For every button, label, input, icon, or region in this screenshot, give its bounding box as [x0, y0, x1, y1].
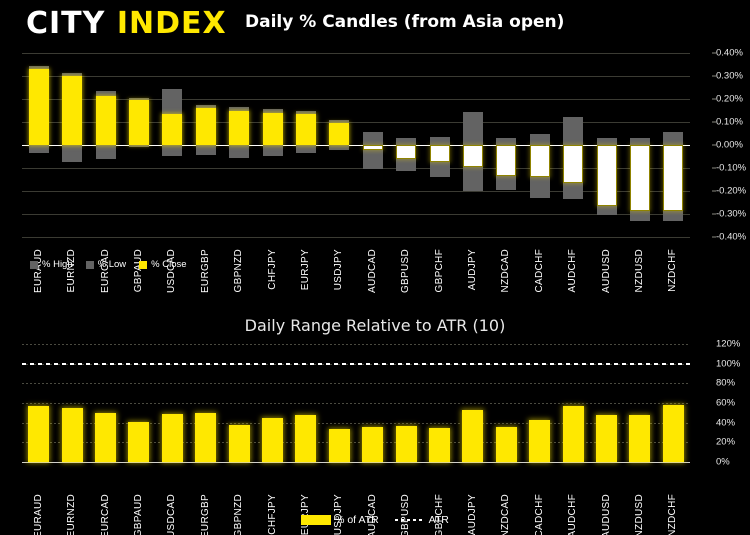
candle	[530, 53, 550, 237]
atr-bar	[262, 418, 283, 462]
legend-swatch-icon	[30, 261, 38, 269]
candles-plot-area: 0.40%0.30%0.20%0.10%0.00%-0.10%-0.20%-0.…	[22, 53, 690, 237]
x-axis-tick-label: GBPCHF	[434, 249, 445, 292]
gridline	[22, 442, 690, 443]
candle-body-down	[563, 145, 583, 183]
atr-bar	[329, 429, 350, 462]
candle-body-down	[430, 145, 450, 162]
atr-bar	[229, 425, 250, 462]
candle-body-down	[630, 145, 650, 211]
legend-label: ATR	[429, 514, 449, 526]
x-axis-tick-label: AUDCHF	[567, 249, 578, 292]
candle-body-down	[530, 145, 550, 177]
candle-body-up	[296, 114, 316, 145]
candle-body-down	[463, 145, 483, 167]
x-axis-tick-label: AUDCAD	[367, 249, 378, 293]
candle	[463, 53, 483, 237]
y-axis-tick-label: 40%	[716, 417, 735, 428]
atr-bar	[563, 406, 584, 462]
gridline	[22, 423, 690, 424]
candle	[62, 53, 82, 237]
legend-label: % Close	[151, 259, 186, 270]
gridline	[22, 237, 690, 238]
gridline	[22, 214, 690, 215]
atr-bar	[396, 426, 417, 462]
candle	[229, 53, 249, 237]
y-axis-tick-label: 0.40%	[716, 48, 743, 59]
atr-bar	[362, 427, 383, 462]
y-axis-tick-label: 0.00%	[716, 140, 743, 151]
candle-body-down	[363, 145, 383, 150]
atr-bar	[629, 415, 650, 462]
legend-item: ATR	[395, 514, 449, 526]
atr-bar	[95, 413, 116, 462]
atr-bar	[496, 427, 517, 462]
legend-item: % of ATR	[301, 514, 379, 526]
candles-legend: % High% Low% Close	[30, 259, 187, 270]
atr-bar	[462, 410, 483, 462]
candles-panel: 0.40%0.30%0.20%0.10%0.00%-0.10%-0.20%-0.…	[0, 46, 750, 316]
x-axis-tick-label: NZDCHF	[667, 249, 678, 292]
y-axis-tick-label: 0.20%	[716, 94, 743, 105]
x-axis-tick-label: GBPAUD	[133, 249, 144, 292]
gridline	[22, 403, 690, 404]
atr-bar	[162, 414, 183, 462]
baseline	[22, 462, 690, 463]
x-axis-tick-label: EURCAD	[100, 249, 111, 293]
x-axis-tick-label: AUDUSD	[601, 249, 612, 293]
candle	[563, 53, 583, 237]
gridline	[22, 383, 690, 384]
chart1-title: Daily % Candles (from Asia open)	[245, 12, 564, 32]
legend-label: % of ATR	[335, 514, 379, 526]
candle	[196, 53, 216, 237]
atr-bar	[62, 408, 83, 462]
brand-word-index: INDEX	[117, 6, 227, 41]
candle	[29, 53, 49, 237]
gridline	[22, 99, 690, 100]
candle-wick	[363, 132, 383, 169]
y-axis-tick-label: 60%	[716, 398, 735, 409]
y-axis-tick-label: 0%	[716, 457, 730, 468]
candle	[597, 53, 617, 237]
candle-body-up	[329, 123, 349, 145]
atr-bar	[596, 415, 617, 462]
gridline	[22, 168, 690, 169]
legend-label: % High	[42, 259, 73, 270]
candle	[663, 53, 683, 237]
y-axis-tick-label: -0.30%	[716, 209, 746, 220]
legend-dotted-line-icon	[395, 519, 425, 521]
zero-line	[22, 145, 690, 146]
legend-item: % High	[30, 259, 73, 270]
gridline	[22, 191, 690, 192]
gridline	[22, 122, 690, 123]
y-axis-tick-label: 0.10%	[716, 117, 743, 128]
y-axis-tick-label: 80%	[716, 378, 735, 389]
atr-bar	[128, 422, 149, 462]
candle	[129, 53, 149, 237]
y-axis-tick-label: 0.30%	[716, 71, 743, 82]
chart2-title: Daily Range Relative to ATR (10)	[0, 316, 750, 335]
x-axis-tick-label: EURGBP	[200, 249, 211, 293]
x-axis-tick-label: EURJPY	[300, 249, 311, 290]
gridline	[22, 76, 690, 77]
brand-word-city: CITY	[26, 6, 105, 41]
x-axis-tick-label: USDCAD	[166, 249, 177, 293]
x-axis-tick-label: EURNZD	[66, 249, 77, 292]
y-axis-tick-label: 20%	[716, 437, 735, 448]
x-axis-tick-label: NZDUSD	[634, 249, 645, 292]
legend-swatch-icon	[139, 261, 147, 269]
candle-body-down	[663, 145, 683, 211]
y-axis-tick-label: -0.40%	[716, 232, 746, 243]
x-axis-tick-label: GBPNZD	[233, 249, 244, 292]
candle	[363, 53, 383, 237]
atr-bar	[28, 406, 49, 462]
legend-bar-swatch-icon	[301, 515, 331, 525]
atr-panel: Daily Range Relative to ATR (10) 120%100…	[0, 316, 750, 535]
candle-body-down	[496, 145, 516, 176]
gridline	[22, 344, 690, 345]
atr-legend: % of ATRATR	[0, 514, 750, 526]
x-axis-tick-label: AUDJPY	[467, 249, 478, 290]
legend-label: % Low	[98, 259, 127, 270]
candle	[630, 53, 650, 237]
candle	[96, 53, 116, 237]
candle-body-down	[597, 145, 617, 206]
y-axis-tick-label: 100%	[716, 358, 740, 369]
x-axis-tick-label: CHFJPY	[267, 249, 278, 290]
x-axis-tick-label: CADCHF	[534, 249, 545, 292]
candle	[396, 53, 416, 237]
chart-page: CITY INDEX Daily % Candles (from Asia op…	[0, 0, 750, 535]
candle-body-up	[229, 111, 249, 146]
candle	[496, 53, 516, 237]
y-axis-tick-label: 120%	[716, 339, 740, 350]
y-axis-tick-label: -0.20%	[716, 186, 746, 197]
candle	[329, 53, 349, 237]
x-axis-tick-label: EURAUD	[33, 249, 44, 293]
candle-body-up	[96, 96, 116, 145]
x-axis-tick-label: GBPUSD	[400, 249, 411, 293]
atr-bar	[195, 413, 216, 462]
candle	[430, 53, 450, 237]
candle-body-up	[162, 114, 182, 145]
page-header: CITY INDEX Daily % Candles (from Asia op…	[0, 0, 750, 46]
x-axis-tick-label: NZDCAD	[500, 249, 511, 292]
atr-bar	[429, 428, 450, 462]
x-axis-tick-label: USDJPY	[333, 249, 344, 290]
candle-body-up	[263, 113, 283, 145]
legend-item: % Close	[139, 259, 186, 270]
legend-swatch-icon	[86, 261, 94, 269]
atr-bar	[295, 415, 316, 462]
candle-body-up	[62, 76, 82, 145]
candle	[162, 53, 182, 237]
atr-bar	[663, 405, 684, 462]
atr-reference-line	[22, 363, 690, 365]
y-axis-tick-label: -0.10%	[716, 163, 746, 174]
legend-item: % Low	[86, 259, 127, 270]
gridline	[22, 53, 690, 54]
atr-plot-area: 120%100%80%60%40%20%0%EURAUDEURNZDEURCAD…	[22, 344, 690, 462]
candle-body-down	[396, 145, 416, 159]
candle-body-up	[29, 69, 49, 145]
candle	[263, 53, 283, 237]
candle	[296, 53, 316, 237]
candle-body-up	[129, 100, 149, 145]
brand-logo: CITY INDEX	[26, 6, 227, 41]
atr-bar	[529, 420, 550, 462]
candle-body-up	[196, 108, 216, 145]
